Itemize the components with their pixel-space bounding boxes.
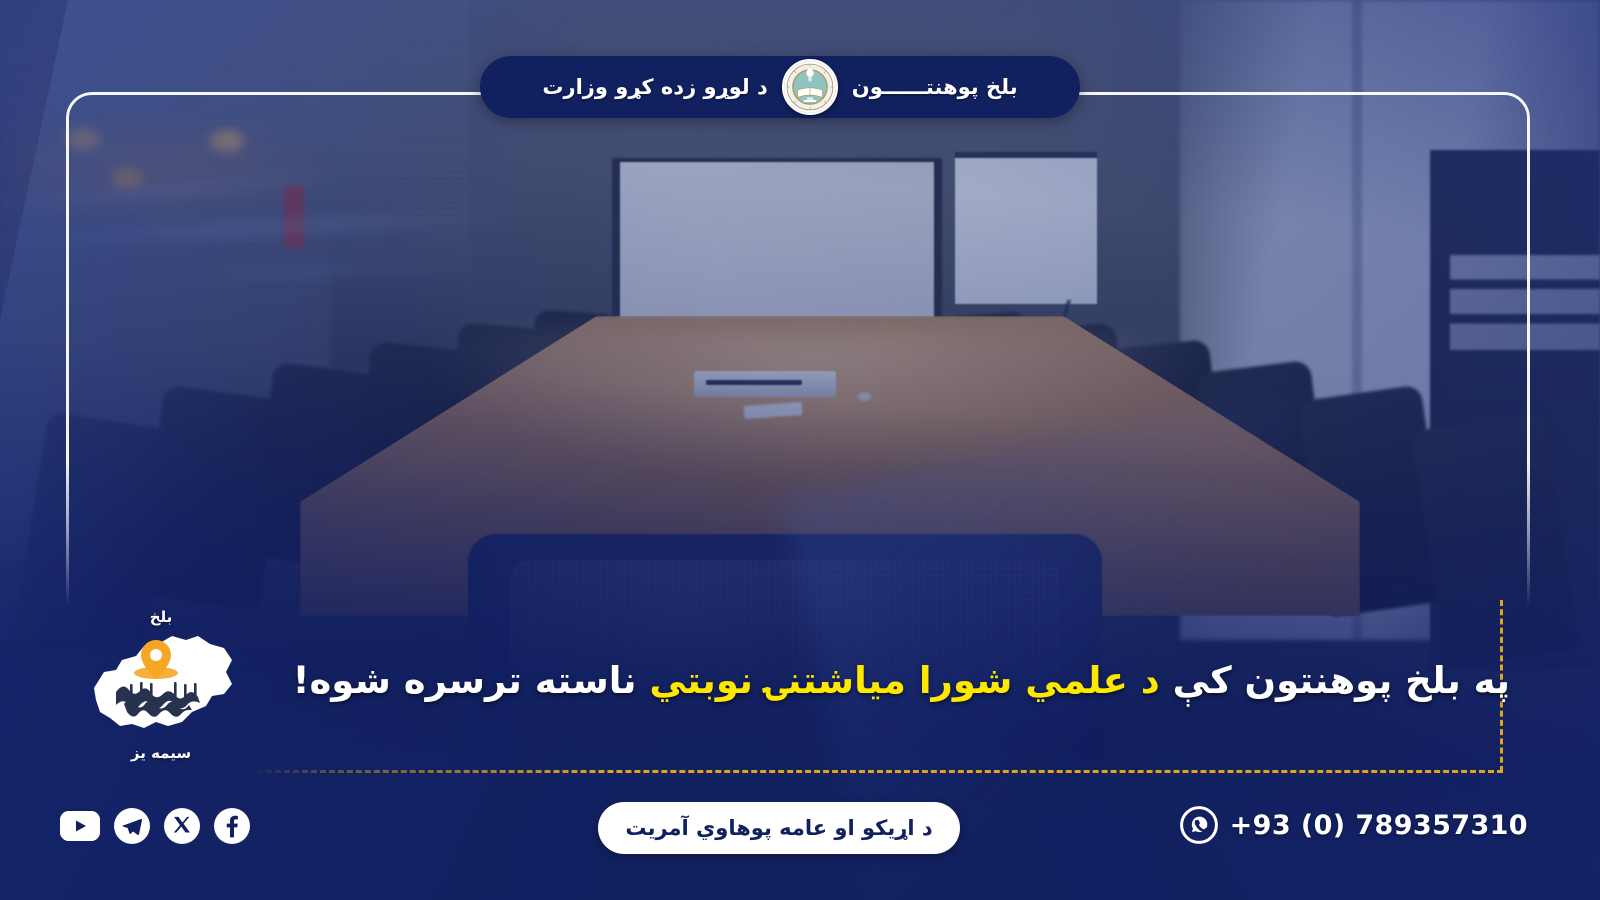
headline: په بلخ پوهنتون کې د علمي شورا مياشتنۍ نو… [240, 656, 1510, 706]
headline-highlight: د علمي شورا مياشتنۍ نوبتي [649, 659, 1159, 702]
map-label-regional: سیمه یز [86, 744, 236, 762]
announcement-banner: بلخ پوهنتــــــون [0, 0, 1600, 900]
university-label: بلخ پوهنتــــــون [852, 75, 1018, 99]
youtube-icon[interactable] [60, 811, 100, 841]
x-twitter-icon[interactable] [164, 808, 200, 844]
ministry-label: د لوړو زده کړو وزارت [542, 75, 767, 99]
map-label-balkh: بلخ [86, 608, 236, 626]
dashed-horizontal-rule [248, 770, 1503, 773]
social-links [60, 808, 250, 844]
facebook-icon[interactable] [214, 808, 250, 844]
contact-phone[interactable]: +93 (0) 789357310 [1180, 806, 1528, 844]
header-title-pill: بلخ پوهنتــــــون [480, 56, 1080, 118]
department-label: د اړیکو او عامه پوهاوي آمریت [625, 816, 932, 840]
balkh-university-seal-icon [782, 59, 838, 115]
headline-part-2: ناسته ترسره شوه! [293, 659, 650, 702]
phone-number: +93 (0) 789357310 [1230, 810, 1528, 841]
telegram-icon[interactable] [114, 808, 150, 844]
whatsapp-icon [1180, 806, 1218, 844]
department-pill[interactable]: د اړیکو او عامه پوهاوي آمریت [598, 802, 960, 854]
headline-part-1: په بلخ پوهنتون کې [1160, 659, 1510, 702]
afghanistan-map-icon [86, 626, 236, 742]
regional-map-logo: بلخ سیمه یز [86, 608, 236, 760]
